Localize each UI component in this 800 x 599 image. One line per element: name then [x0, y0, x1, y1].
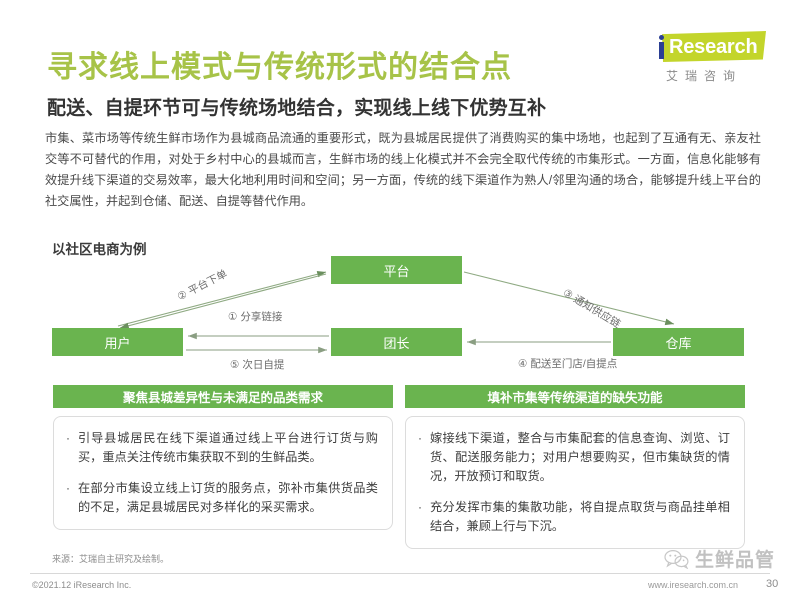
panel-body: · 引导县城居民在线下渠道通过线上平台进行订货与购买，重点关注传统市集获取不到的… — [53, 416, 393, 530]
edge-label-pickup: ⑤ 次日自提 — [230, 357, 284, 372]
diagram-node-platform[interactable]: 平台 — [331, 256, 462, 284]
logo-mark: Research — [648, 30, 766, 64]
list-item-text: 在部分市集设立线上订货的服务点，弥补市集供货品类的不足，满足县城居民对多样化的采… — [78, 479, 378, 517]
community-ecommerce-flow-diagram: 平台 用户 团长 仓库 ① 分享链接 ② 平台下单 ③ 通知供应链 ④ 配送至门… — [40, 252, 770, 377]
diagram-node-user[interactable]: 用户 — [52, 328, 183, 356]
watermark: 生鲜品管 — [664, 545, 775, 572]
list-item-text: 引导县城居民在线下渠道通过线上平台进行订货与购买，重点关注传统市集获取不到的生鲜… — [78, 429, 378, 467]
panel-header: 聚焦县城差异性与未满足的品类需求 — [53, 385, 393, 408]
slide-canvas: Research 艾瑞咨询 寻求线上模式与传统形式的结合点 配送、自提环节可与传… — [0, 0, 800, 599]
bullet-dot-icon: · — [418, 498, 430, 536]
list-item: · 充分发挥市集的集散功能，将自提点取货与商品挂单相结合，兼顾上行与下沉。 — [418, 498, 730, 536]
copyright-text: ©2021.12 iResearch Inc. — [32, 580, 131, 590]
edge-label-deliver: ④ 配送至门店/自提点 — [518, 356, 617, 371]
logo-i-stem — [659, 42, 664, 59]
iresearch-logo: Research 艾瑞咨询 — [648, 30, 770, 88]
body-paragraph: 市集、菜市场等传统生鲜市场作为县城商品流通的重要形式，既为县城居民提供了消费购买… — [45, 128, 761, 212]
diagram-node-warehouse[interactable]: 仓库 — [613, 328, 744, 356]
list-item: · 引导县城居民在线下渠道通过线上平台进行订货与购买，重点关注传统市集获取不到的… — [66, 429, 378, 467]
panel-missing-functions: 填补市集等传统渠道的缺失功能 · 嫁接线下渠道，整合与市集配套的信息查询、浏览、… — [405, 385, 745, 549]
watermark-text: 生鲜品管 — [695, 545, 775, 572]
page-title: 寻求线上模式与传统形式的结合点 — [47, 42, 512, 86]
panel-body: · 嫁接线下渠道，整合与市集配套的信息查询、浏览、订货、配送服务能力；对用户想要… — [405, 416, 745, 549]
list-item-text: 充分发挥市集的集散功能，将自提点取货与商品挂单相结合，兼顾上行与下沉。 — [430, 498, 730, 536]
diagram-node-leader[interactable]: 团长 — [331, 328, 462, 356]
logo-chinese-name: 艾瑞咨询 — [666, 67, 742, 84]
list-item: · 嫁接线下渠道，整合与市集配套的信息查询、浏览、订货、配送服务能力；对用户想要… — [418, 429, 730, 486]
footer-url: www.iresearch.com.cn — [648, 580, 738, 590]
page-subtitle: 配送、自提环节可与传统场地结合，实现线上线下优势互补 — [47, 93, 546, 120]
list-item-text: 嫁接线下渠道，整合与市集配套的信息查询、浏览、订货、配送服务能力；对用户想要购买… — [430, 429, 730, 486]
bullet-dot-icon: · — [66, 479, 78, 517]
bullet-dot-icon: · — [418, 429, 430, 486]
edge-label-share: ① 分享链接 — [228, 309, 282, 324]
panel-category-demand: 聚焦县城差异性与未满足的品类需求 · 引导县城居民在线下渠道通过线上平台进行订货… — [53, 385, 393, 530]
logo-i-dot — [659, 35, 664, 40]
page-number: 30 — [766, 578, 778, 590]
footer-divider — [30, 573, 770, 574]
list-item: · 在部分市集设立线上订货的服务点，弥补市集供货品类的不足，满足县城居民对多样化… — [66, 479, 378, 517]
source-note: 来源：艾瑞自主研究及绘制。 — [52, 552, 169, 565]
bullet-dot-icon: · — [66, 429, 78, 467]
wechat-icon — [664, 549, 690, 569]
logo-wordmark: Research — [669, 35, 757, 59]
panel-header: 填补市集等传统渠道的缺失功能 — [405, 385, 745, 408]
